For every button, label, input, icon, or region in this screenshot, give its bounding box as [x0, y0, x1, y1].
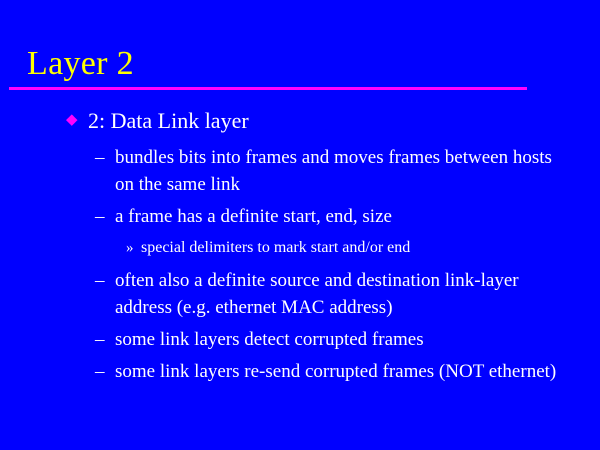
outline-item-level-2: –some link layers re-send corrupted fram… [0, 358, 600, 385]
slide-body-outline: ◆2: Data Link layer–bundles bits into fr… [0, 106, 600, 390]
outline-item-level-2: –some link layers detect corrupted frame… [0, 326, 600, 353]
double-angle-bullet-icon: » [126, 235, 142, 261]
en-dash-bullet-icon: – [95, 358, 113, 385]
outline-item-level-3: »special delimiters to mark start and/or… [0, 235, 600, 261]
outline-item-level-2: –bundles bits into frames and moves fram… [0, 144, 600, 198]
outline-item-level-1: ◆2: Data Link layer [0, 106, 600, 135]
en-dash-bullet-icon: – [95, 144, 113, 171]
en-dash-bullet-icon: – [95, 203, 113, 230]
outline-item-text: a frame has a definite start, end, size [115, 203, 562, 230]
diamond-bullet-icon: ◆ [66, 106, 82, 135]
en-dash-bullet-icon: – [95, 267, 113, 294]
outline-item-level-2: –a frame has a definite start, end, size [0, 203, 600, 230]
outline-item-text: bundles bits into frames and moves frame… [115, 144, 562, 198]
outline-item-level-2: –often also a definite source and destin… [0, 267, 600, 321]
outline-item-text: some link layers detect corrupted frames [115, 326, 562, 353]
outline-item-text: some link layers re-send corrupted frame… [115, 358, 562, 385]
presentation-slide: Layer 2 ◆2: Data Link layer–bundles bits… [0, 0, 600, 450]
title-underline-rule [9, 87, 527, 90]
page-title: Layer 2 [27, 44, 134, 84]
en-dash-bullet-icon: – [95, 326, 113, 353]
outline-item-text: special delimiters to mark start and/or … [141, 235, 560, 261]
slide-title-block: Layer 2 [0, 0, 600, 95]
outline-item-text: often also a definite source and destina… [115, 267, 562, 321]
outline-item-text: 2: Data Link layer [88, 106, 570, 135]
